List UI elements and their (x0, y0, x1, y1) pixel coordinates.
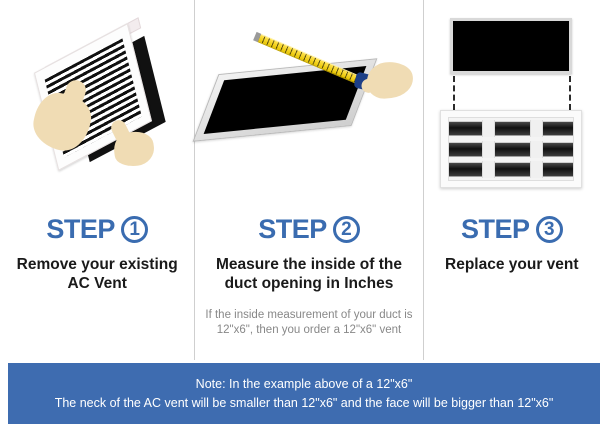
steps-row: STEP 1 Remove your existing AC Vent (0, 0, 600, 360)
step-1-caption: Remove your existing AC Vent (0, 255, 194, 294)
instruction-graphic: STEP 1 Remove your existing AC Vent (0, 0, 600, 424)
duct-measure-icon (207, 52, 412, 162)
step-1-heading: STEP 1 (46, 216, 148, 243)
step-panel-2: STEP 2 Measure the inside of the duct op… (195, 0, 422, 360)
step-3-heading: STEP 3 (461, 216, 563, 243)
step-3-caption: Replace your vent (437, 255, 587, 274)
step-3-illustration (424, 0, 600, 210)
note-line-1: Note: In the example above of a 12"x6" (196, 375, 413, 394)
step-3-label: STEP (461, 216, 530, 243)
step-panel-3: STEP 3 Replace your vent (424, 0, 600, 360)
vent-in-hands-icon (28, 34, 168, 174)
step-2-number-badge: 2 (333, 216, 360, 243)
louver-row (449, 121, 573, 136)
duct-opening (450, 18, 572, 74)
replacement-vent (440, 110, 582, 188)
step-2-subtext: If the inside measurement of your duct i… (195, 308, 422, 339)
vent-louver-grid (448, 117, 574, 181)
step-2-heading: STEP 2 (258, 216, 360, 243)
step-1-number-badge: 1 (121, 216, 148, 243)
louver-row (449, 162, 573, 177)
louver-row (449, 142, 573, 157)
right-hand-icon (112, 129, 156, 168)
step-1-label: STEP (46, 216, 115, 243)
step-3-number-badge: 3 (536, 216, 563, 243)
step-2-label: STEP (258, 216, 327, 243)
note-line-2: The neck of the AC vent will be smaller … (55, 394, 554, 413)
step-panel-1: STEP 1 Remove your existing AC Vent (0, 0, 194, 360)
note-banner: Note: In the example above of a 12"x6" T… (8, 363, 600, 424)
alignment-guide-right (569, 76, 571, 110)
duct-vent-alignment-icon (436, 18, 588, 194)
alignment-guide-left (453, 76, 455, 110)
step-2-caption: Measure the inside of the duct opening i… (195, 255, 422, 294)
tape-hook (253, 32, 261, 42)
step-2-illustration (195, 0, 422, 210)
step-1-illustration (0, 0, 194, 210)
